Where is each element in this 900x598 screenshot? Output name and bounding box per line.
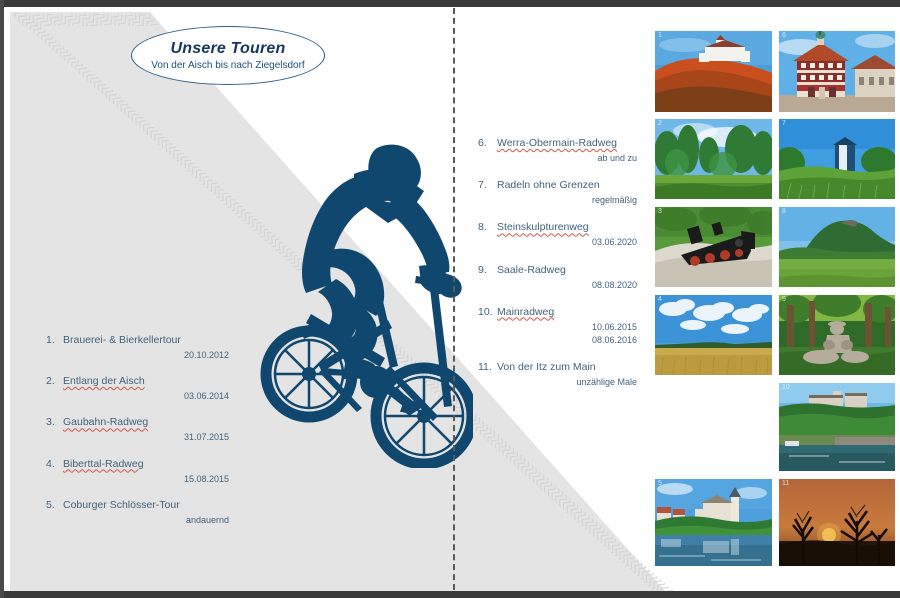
photo-number: 4 — [658, 296, 662, 303]
tour-date: regelmäßig — [478, 194, 643, 207]
tour-number: 2. — [46, 375, 63, 388]
tour-number: 9. — [478, 264, 497, 277]
photo-grid: 1 — [655, 31, 895, 566]
tour-date: ab und zu — [478, 152, 643, 165]
photo-thumbnail[interactable]: 6 — [779, 31, 895, 112]
tour-name: Brauerei- & Bierkellertour — [63, 334, 181, 347]
list-item[interactable]: 9.Saale-Radweg 08.08.2020 — [478, 264, 643, 292]
tour-date: 15.08.2015 — [46, 473, 251, 486]
list-item[interactable]: 6.Werra-Obermain-Radweg ab und zu — [478, 137, 643, 165]
tour-name: Von der Itz zum Main — [497, 361, 596, 374]
tour-name: Entlang der Aisch — [63, 375, 145, 388]
photo-thumbnail[interactable]: 8 — [779, 207, 895, 287]
tour-number: 11. — [478, 361, 497, 374]
tour-date-line: 10.06.2015 — [478, 321, 637, 334]
tour-number: 8. — [478, 221, 497, 234]
photo-number: 10 — [782, 384, 790, 391]
photo-thumbnail[interactable]: 3 — [655, 207, 772, 287]
photo-number: 9 — [782, 296, 786, 303]
tour-name: Coburger Schlösser-Tour — [63, 499, 180, 512]
tour-name: Mainradweg — [497, 306, 554, 319]
page-subtitle: Von der Aisch bis nach Ziegelsdorf — [151, 60, 304, 71]
list-item[interactable]: 7.Radeln ohne Grenzen regelmäßig — [478, 179, 643, 207]
photo-number: 7 — [782, 120, 786, 127]
tour-name: Gaubahn-Radweg — [63, 416, 148, 429]
tour-date: 03.06.2014 — [46, 390, 251, 403]
tour-name: Radeln ohne Grenzen — [497, 179, 600, 192]
tour-date: 08.08.2020 — [478, 279, 643, 292]
page-inner-left-margin — [4, 7, 6, 591]
list-item[interactable]: 5.Coburger Schlösser-Tour andauernd — [46, 499, 251, 527]
photo-thumbnail[interactable]: 5 — [655, 479, 772, 566]
photo-number: 3 — [658, 208, 662, 215]
list-item[interactable]: 1.Brauerei- & Bierkellertour 20.10.2012 — [46, 334, 251, 362]
tour-number: 5. — [46, 499, 63, 512]
page-border-bottom — [0, 591, 900, 598]
document-page: Unsere Touren Von der Aisch bis nach Zie… — [0, 0, 900, 598]
photo-number: 5 — [658, 480, 662, 487]
list-item[interactable]: 3.Gaubahn-Radweg 31.07.2015 — [46, 416, 251, 444]
photo-thumbnail[interactable]: 9 — [779, 295, 895, 375]
fold-dashed-line — [453, 8, 455, 590]
tour-number: 10. — [478, 306, 497, 319]
list-item[interactable]: 11.Von der Itz zum Main unzählige Male — [478, 361, 643, 389]
tour-number: 4. — [46, 458, 63, 471]
cyclist-silhouette-icon — [258, 128, 473, 468]
tour-number: 6. — [478, 137, 497, 150]
tour-number: 1. — [46, 334, 63, 347]
photo-number: 8 — [782, 208, 786, 215]
list-item[interactable]: 10.Mainradweg 10.06.2015 08.06.2016 — [478, 306, 643, 347]
page-title: Unsere Touren — [171, 40, 286, 58]
tour-date: 20.10.2012 — [46, 349, 251, 362]
tour-list-left: 1.Brauerei- & Bierkellertour 20.10.2012 … — [46, 334, 251, 540]
tour-date: 10.06.2015 08.06.2016 — [478, 321, 643, 347]
tour-name: Biberttal-Radweg — [63, 458, 144, 471]
title-badge: Unsere Touren Von der Aisch bis nach Zie… — [131, 26, 325, 85]
photo-thumbnail[interactable]: 4 — [655, 295, 772, 375]
photo-thumbnail[interactable]: 7 — [779, 119, 895, 199]
tour-date: unzählige Male — [478, 376, 643, 389]
tour-date: 31.07.2015 — [46, 431, 251, 444]
list-item[interactable]: 2.Entlang der Aisch 03.06.2014 — [46, 375, 251, 403]
tour-name: Steinskulpturenweg — [497, 221, 589, 234]
tour-date: 03.06.2020 — [478, 236, 643, 249]
tour-number: 3. — [46, 416, 63, 429]
list-item[interactable]: 4.Biberttal-Radweg 15.08.2015 — [46, 458, 251, 486]
photo-number: 6 — [782, 32, 786, 39]
tour-name: Saale-Radweg — [497, 264, 566, 277]
tour-number: 7. — [478, 179, 497, 192]
tour-date: andauernd — [46, 514, 251, 527]
photo-thumbnail[interactable]: 10 — [779, 383, 895, 471]
photo-number: 1 — [658, 32, 662, 39]
photo-thumbnail[interactable]: 11 — [779, 479, 895, 566]
photo-thumbnail[interactable]: 2 — [655, 119, 772, 199]
photo-thumbnail[interactable]: 1 — [655, 31, 772, 112]
tour-date-line: 08.06.2016 — [478, 334, 637, 347]
photo-number: 2 — [658, 120, 662, 127]
photo-number: 11 — [782, 480, 789, 487]
list-item[interactable]: 8.Steinskulpturenweg 03.06.2020 — [478, 221, 643, 249]
page-border-top — [0, 0, 900, 7]
tour-name: Werra-Obermain-Radweg — [497, 137, 617, 150]
tour-list-right: 6.Werra-Obermain-Radweg ab und zu 7.Rade… — [478, 137, 643, 403]
